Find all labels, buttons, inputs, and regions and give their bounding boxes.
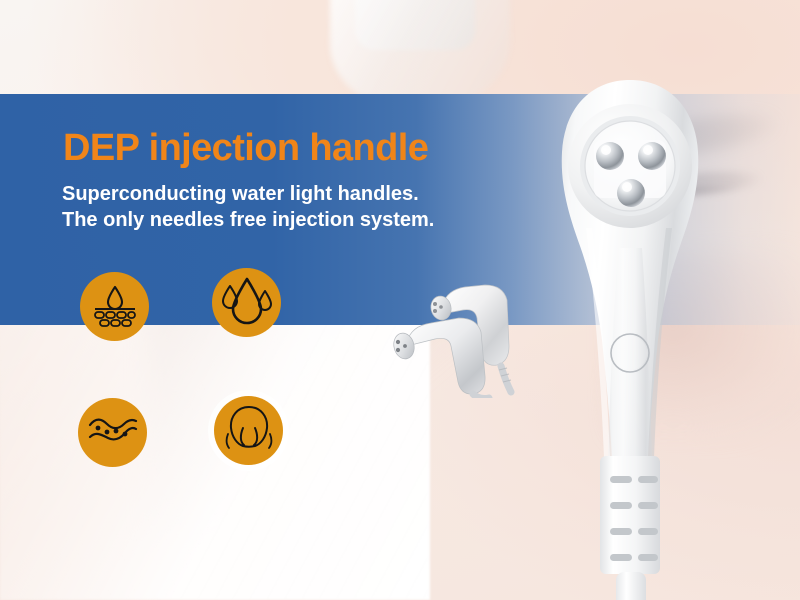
feature-icon-water-droplets[interactable] (212, 268, 281, 337)
nose-pore-icon (224, 404, 274, 457)
handle-front (391, 318, 485, 394)
wrinkle-vessel-icon (87, 413, 139, 452)
feature-icon-skin-absorption[interactable] (80, 272, 149, 341)
dep-injection-handpiece (520, 78, 740, 600)
secondary-handles-group (385, 268, 530, 398)
page-title: DEP injection handle (63, 129, 428, 167)
feature-icon-wrinkle-vessel[interactable] (78, 398, 147, 467)
skin-absorption-icon (89, 280, 141, 333)
electrode-3-glint (622, 182, 632, 192)
feature-icon-nose-pore[interactable] (214, 396, 283, 465)
electrode-2-glint (643, 145, 653, 155)
promo-banner-image: DEP injection handle Superconducting wat… (0, 0, 800, 600)
subtitle-line-2: The only needles free injection system. (62, 207, 434, 233)
water-droplets-icon (221, 275, 273, 330)
power-cord (616, 572, 646, 600)
electrode-2 (638, 142, 666, 170)
electrode-3 (617, 179, 645, 207)
electrode-1 (596, 142, 624, 170)
subtitle: Superconducting water light handles. The… (62, 181, 434, 233)
power-button-face (613, 336, 647, 370)
subtitle-line-1: Superconducting water light handles. (62, 181, 434, 207)
electrode-1-glint (601, 145, 611, 155)
background-glare (0, 300, 430, 600)
